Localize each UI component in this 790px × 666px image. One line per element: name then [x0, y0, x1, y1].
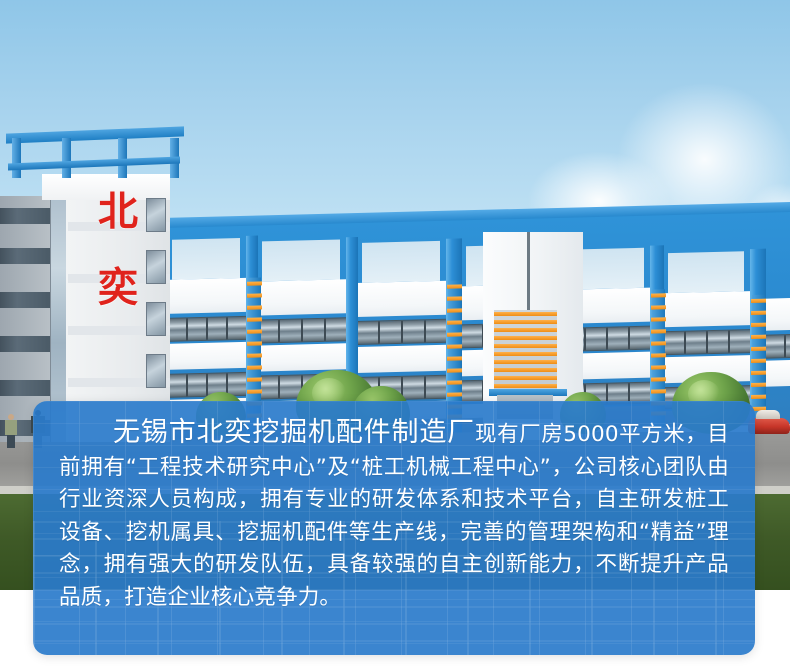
- car-roof: [756, 410, 780, 419]
- spandrel-panel: [356, 281, 446, 317]
- tower-window: [146, 198, 166, 232]
- ribbon-window: [764, 334, 790, 359]
- ribbon-window: [166, 372, 246, 398]
- pedestrian: [4, 414, 18, 448]
- company-profile-banner: 北 奕 无锡市北奕挖掘机配件制造厂现有厂房5000平方米，目前拥有“工程技术研究…: [0, 0, 790, 666]
- bay-open-gap: [262, 239, 340, 281]
- roof-post: [12, 138, 21, 178]
- louver-grille: [494, 310, 557, 392]
- company-intro-panel: 无锡市北奕挖掘机配件制造厂现有厂房5000平方米，目前拥有“工程技术研究中心”及…: [33, 401, 755, 655]
- ribbon-window: [166, 316, 246, 342]
- company-intro-text: 无锡市北奕挖掘机配件制造厂现有厂房5000平方米，目前拥有“工程技术研究中心”及…: [59, 417, 729, 614]
- tower-window: [146, 354, 166, 388]
- tower-seam: [527, 232, 530, 318]
- tower-window: [146, 250, 166, 284]
- bay-open-gap: [362, 241, 440, 283]
- spandrel-panel: [764, 360, 790, 387]
- office-tower: [0, 170, 170, 440]
- spandrel-panel: [764, 298, 790, 331]
- panel-content: 无锡市北奕挖掘机配件制造厂现有厂房5000平方米，目前拥有“工程技术研究中心”及…: [33, 401, 755, 614]
- tower-window: [146, 302, 166, 336]
- bay-open-gap: [172, 238, 240, 280]
- building-sign-char-1: 北: [98, 192, 138, 232]
- company-name: 无锡市北奕挖掘机配件制造厂: [59, 417, 475, 448]
- bay-open-gap: [668, 251, 744, 293]
- ribbon-window: [256, 317, 346, 343]
- building-sign-char-2: 奕: [98, 268, 138, 308]
- roof-steel-frame: [6, 130, 184, 178]
- ribbon-window: [662, 329, 750, 355]
- spandrel-panel: [256, 279, 346, 315]
- roof-post: [62, 138, 71, 178]
- company-intro-paragraph: 现有厂房5000平方米，目前拥有“工程技术研究中心”及“桩工机械工程中心”，公司…: [59, 422, 729, 610]
- spandrel-panel: [166, 278, 246, 314]
- roof-beam-lower: [8, 157, 180, 171]
- spandrel-panel: [356, 345, 446, 373]
- spandrel-panel: [166, 342, 246, 370]
- ribbon-window: [356, 319, 446, 345]
- spandrel-panel: [256, 343, 346, 371]
- spandrel-panel: [662, 291, 750, 327]
